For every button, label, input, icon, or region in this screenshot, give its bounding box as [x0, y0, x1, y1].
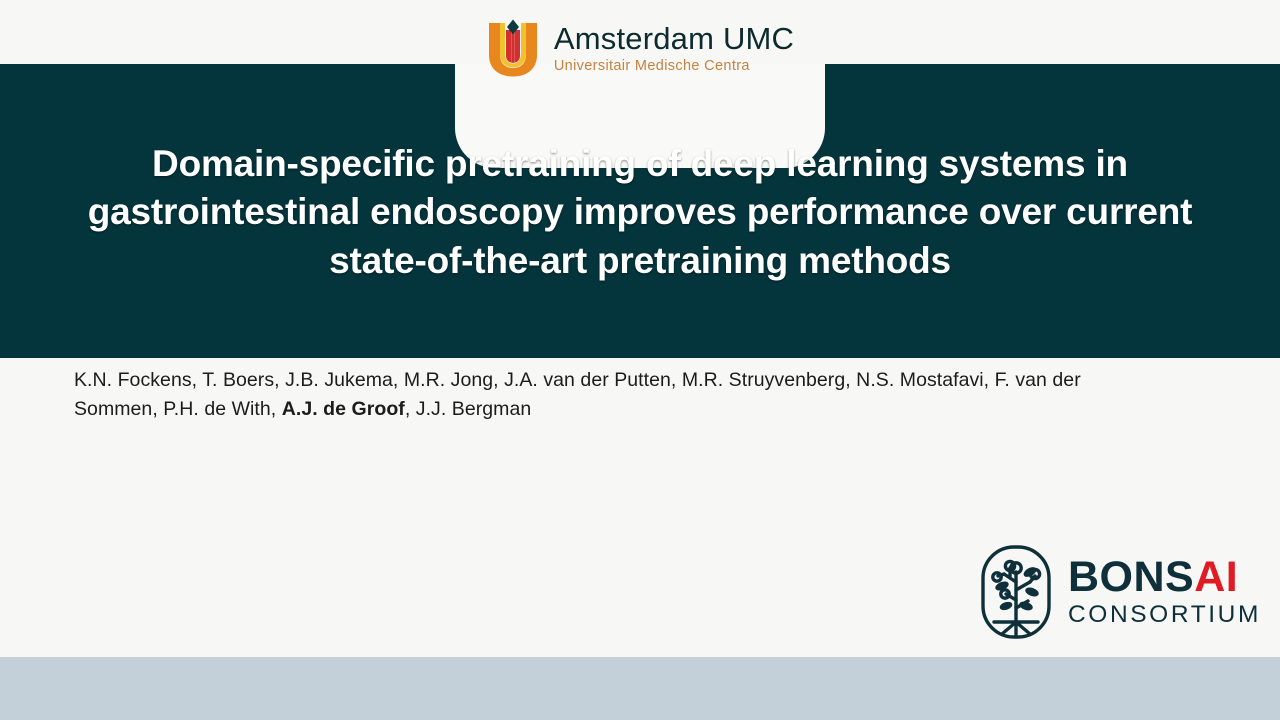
slide-title: Domain-specific pretraining of deep lear…	[60, 140, 1220, 285]
institution-name: Amsterdam UMC	[554, 23, 794, 54]
title-container: Domain-specific pretraining of deep lear…	[0, 140, 1280, 285]
bonsai-subtitle: CONSORTIUM	[1068, 603, 1261, 628]
amsterdam-umc-tulip-icon	[486, 19, 540, 77]
bonsai-consortium-logo: BONSAI CONSORTIUM	[980, 542, 1252, 642]
presentation-slide: Amsterdam UMC Universitair Medische Cent…	[0, 0, 1280, 720]
amsterdam-umc-wordmark: Amsterdam UMC Universitair Medische Cent…	[554, 23, 794, 74]
author-line-2-after: , J.J. Bergman	[405, 398, 531, 420]
bonsai-name: BONSAI	[1068, 556, 1261, 599]
author-list: K.N. Fockens, T. Boers, J.B. Jukema, M.R…	[74, 366, 1104, 423]
bonsai-name-accent: AI	[1194, 553, 1238, 601]
bonsai-tree-icon	[980, 544, 1052, 640]
bonsai-wordmark: BONSAI CONSORTIUM	[1068, 556, 1261, 628]
bonsai-name-dark: BONS	[1068, 553, 1194, 601]
amsterdam-umc-logo: Amsterdam UMC Universitair Medische Cent…	[455, 8, 825, 88]
institution-subtitle: Universitair Medische Centra	[554, 59, 750, 74]
presenting-author: A.J. de Groof	[282, 398, 405, 420]
author-line-1: K.N. Fockens, T. Boers, J.B. Jukema, M.R…	[74, 369, 894, 391]
bottom-bar	[0, 657, 1280, 720]
